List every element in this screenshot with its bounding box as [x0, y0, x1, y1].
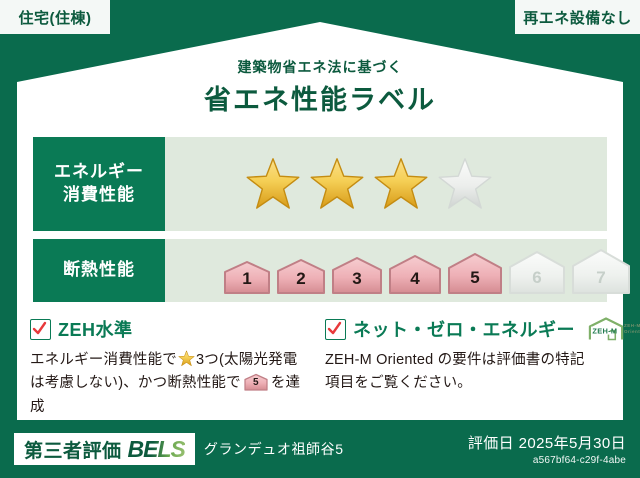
tag-renewable-energy: 再エネ設備なし: [515, 0, 640, 34]
insulation-level-scale: 1 2 3 4: [165, 247, 632, 295]
insulation-performance-row-body: 1 2 3 4: [165, 239, 632, 302]
tag-building-type-label: 住宅(住棟): [19, 7, 92, 28]
tag-building-type: 住宅(住棟): [0, 0, 110, 34]
check-icon-zeh: [30, 319, 51, 340]
insulation-performance-row: 断熱性能: [33, 239, 607, 302]
insulation-chip-1-label: 1: [222, 269, 272, 289]
bels-badge: 第三者評価 BELS: [14, 433, 195, 465]
header-title: 省エネ性能ラベル: [0, 78, 640, 117]
header-subtitle: 建築物省エネ法に基づく: [0, 57, 640, 77]
net-zero-title-row: ネット・ゼロ・エネルギー ZEH-M ZEH-M Oriented: [325, 316, 607, 342]
insulation-chip-2-label: 2: [275, 269, 327, 289]
insulation-chip-2: 2: [275, 257, 327, 295]
star-rating: [165, 156, 493, 212]
star-icon-inline: [178, 350, 195, 367]
insulation-title: 断熱性能: [63, 259, 135, 282]
zeh-m-oriented-logo: ZEH-M ZEH-M Oriented: [586, 316, 640, 342]
insulation-chip-4: 4: [387, 253, 443, 295]
footer-bar: 第三者評価 BELS グランデュオ祖師谷5 評価日 2025年5月30日 a56…: [0, 420, 640, 478]
insulation-chip-4-label: 4: [387, 269, 443, 289]
zeh-desc-stars: 3つ(太陽光発電: [196, 352, 298, 368]
insulation-chip-7-label: 7: [570, 268, 632, 288]
insulation-chip-inline-label: 5: [243, 375, 269, 391]
insulation-chip-3-label: 3: [330, 269, 384, 289]
building-name: グランデュオ祖師谷5: [204, 439, 344, 459]
insulation-chip-6-label: 6: [507, 268, 567, 288]
zeh-desc-part2: は考慮しない)、かつ断熱性能で: [30, 375, 241, 391]
net-zero-desc-line2: 項目をご覧ください。: [325, 375, 472, 391]
net-zero-title: ネット・ゼロ・エネルギー: [353, 316, 575, 342]
zeh-standard-title-row: ZEH水準: [30, 316, 312, 342]
insulation-performance-row-header: 断熱性能: [33, 239, 165, 302]
energy-performance-label: 住宅(住棟) 再エネ設備なし 建築物省エネ法に基づく 省エネ性能ラベル エネルギ…: [0, 0, 640, 478]
energy-performance-row-body: [165, 137, 607, 231]
net-zero-description: ZEH-M Oriented の要件は評価書の特記 項目をご覧ください。: [325, 349, 607, 396]
insulation-chip-5: 5: [446, 251, 504, 295]
star-icon-filled-1: [245, 156, 301, 212]
insulation-chip-3: 3: [330, 255, 384, 295]
energy-title-line1: エネルギー: [54, 161, 144, 184]
net-zero-energy-block: ネット・ゼロ・エネルギー ZEH-M ZEH-M Oriented ZEH-M …: [325, 316, 607, 396]
star-icon-empty-4: [437, 156, 493, 212]
zeh-standard-title: ZEH水準: [58, 316, 133, 342]
zeh-m-logo-sub2: Oriented: [624, 329, 640, 335]
star-icon-filled-2: [309, 156, 365, 212]
evaluation-id: a567bf64-c29f-4abe: [468, 455, 626, 466]
evaluation-date: 評価日 2025年5月30日: [468, 432, 626, 453]
check-icon-net-zero: [325, 319, 346, 340]
insulation-chip-5-label: 5: [446, 268, 504, 288]
bels-badge-en-label: BELS: [128, 436, 185, 463]
net-zero-desc-line1: ZEH-M Oriented の要件は評価書の特記: [325, 352, 585, 368]
energy-performance-row-header: エネルギー 消費性能: [33, 137, 165, 231]
energy-title-line2: 消費性能: [63, 184, 135, 207]
star-icon-filled-3: [373, 156, 429, 212]
zeh-desc-part1: エネルギー消費性能で: [30, 352, 177, 368]
zeh-standard-block: ZEH水準 エネルギー消費性能で3つ(太陽光発電 は考慮しない)、かつ断熱性能で…: [30, 316, 312, 419]
energy-performance-row: エネルギー 消費性能: [33, 137, 607, 231]
insulation-chip-7: 7: [570, 247, 632, 295]
insulation-chip-inline: 5: [243, 373, 269, 391]
bels-badge-jp-label: 第三者評価: [24, 436, 122, 463]
zeh-standard-description: エネルギー消費性能で3つ(太陽光発電 は考慮しない)、かつ断熱性能で5を達成: [30, 349, 312, 419]
zeh-m-logo-text: ZEH-M: [592, 326, 617, 335]
insulation-chip-1: 1: [222, 259, 272, 295]
insulation-chip-6: 6: [507, 249, 567, 295]
footer-meta: 評価日 2025年5月30日 a567bf64-c29f-4abe: [468, 432, 626, 466]
tag-renewable-energy-label: 再エネ設備なし: [523, 7, 632, 28]
